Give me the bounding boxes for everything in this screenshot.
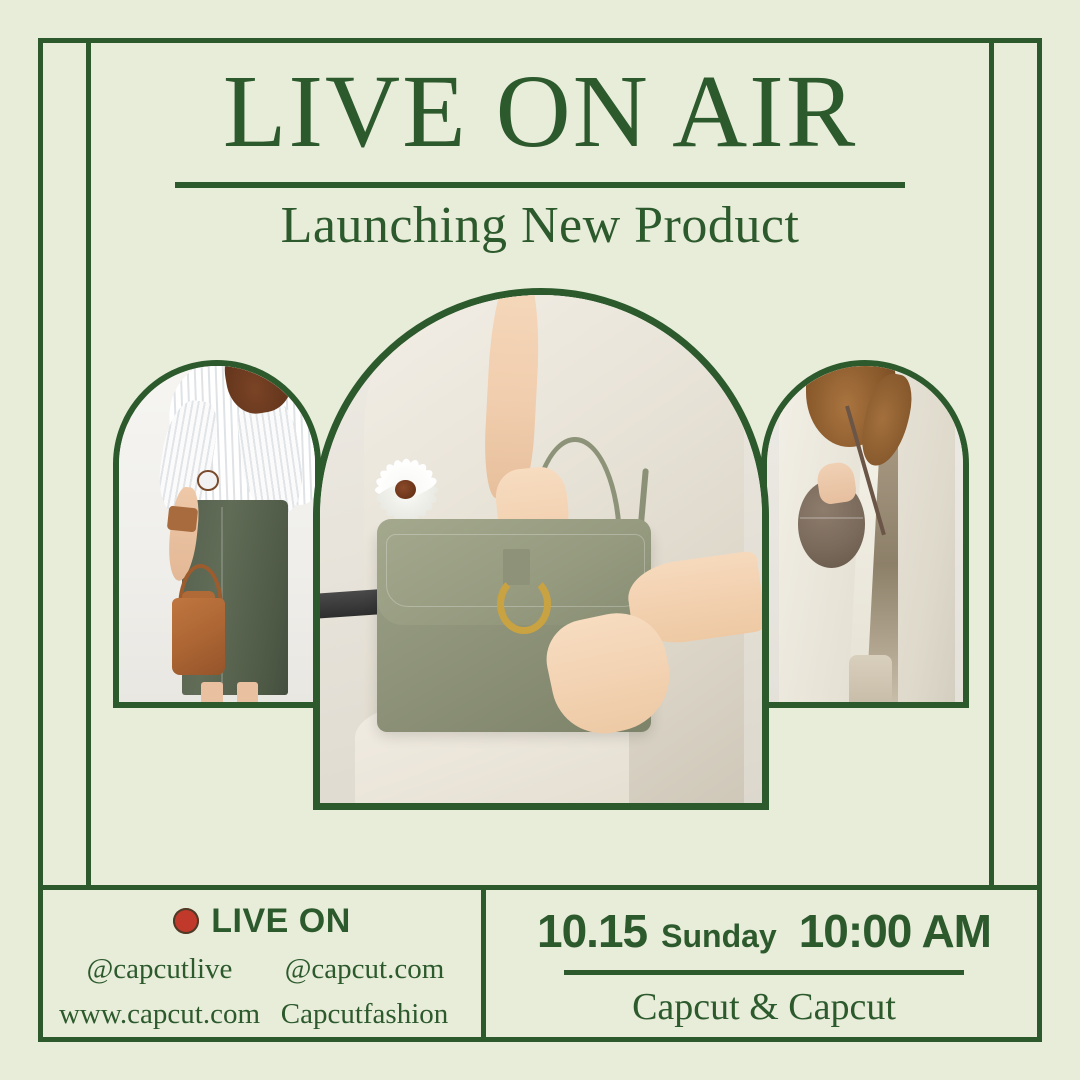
bag-zipper	[800, 517, 863, 519]
gallery-photo-left	[113, 360, 321, 708]
leather-cuff	[167, 506, 199, 532]
leg-right	[237, 682, 259, 708]
boot	[849, 655, 892, 708]
event-day: Sunday	[661, 918, 777, 955]
footer-schedule-block: 10.15 Sunday 10:00 AM Capcut & Capcut	[486, 890, 1042, 1042]
footer-social-block: LIVE ON @capcutlive @capcut.com www.capc…	[43, 890, 481, 1042]
photo-left-content	[119, 366, 315, 702]
event-time: 10:00 AM	[799, 904, 991, 958]
wristwatch	[197, 470, 219, 491]
live-record-dot-icon	[173, 908, 199, 934]
event-date: 10.15	[537, 904, 647, 958]
live-status: LIVE ON	[173, 902, 351, 941]
social-handle[interactable]: @capcutlive	[57, 953, 262, 986]
gallery-photo-right	[761, 360, 969, 708]
photo-center-content	[320, 295, 762, 803]
schedule-underline	[564, 970, 964, 975]
live-label: LIVE ON	[211, 902, 351, 941]
photo-right-content	[767, 366, 963, 702]
tan-leather-bag	[172, 598, 225, 675]
leg-left	[201, 682, 223, 708]
event-datetime: 10.15 Sunday 10:00 AM	[537, 904, 991, 958]
social-handle[interactable]: www.capcut.com	[57, 998, 262, 1031]
gallery-photo-center	[313, 288, 769, 810]
live-announcement-poster: LIVE ON AIR Launching New Product	[0, 0, 1080, 1080]
social-handle[interactable]: Capcutfashion	[262, 998, 467, 1031]
social-handle[interactable]: @capcut.com	[262, 953, 467, 986]
event-host: Capcut & Capcut	[632, 985, 896, 1029]
gold-d-ring-clasp	[497, 574, 551, 634]
social-handle-list: @capcutlive @capcut.com www.capcut.com C…	[57, 953, 467, 1031]
